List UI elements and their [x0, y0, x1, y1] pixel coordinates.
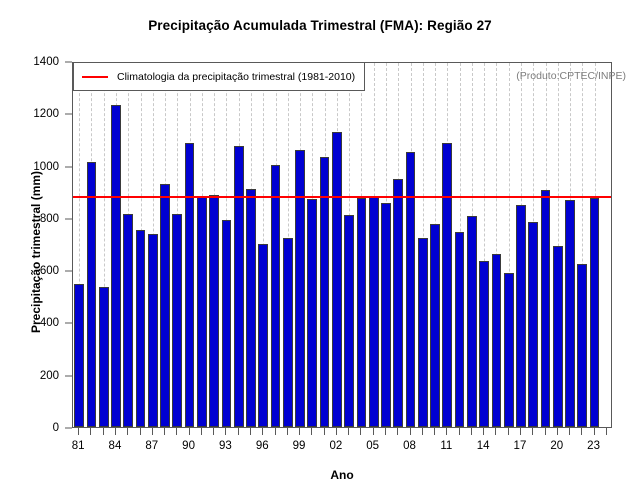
y-axis-tick-mark [65, 428, 72, 429]
x-axis-tick-mark [557, 428, 558, 435]
x-axis-tick-label: 05 [366, 440, 379, 452]
x-axis-tick-mark [336, 428, 337, 435]
x-axis-tick-mark [495, 428, 496, 435]
y-axis-label: Precipitação trimestral (mm) [29, 112, 43, 392]
x-axis-tick-mark [262, 428, 263, 435]
x-axis-tick-mark [385, 428, 386, 435]
x-axis-tick-label: 17 [514, 440, 527, 452]
x-axis-tick-mark [127, 428, 128, 435]
x-axis-tick-mark [360, 428, 361, 435]
x-axis-tick-mark [103, 428, 104, 435]
page-title: Precipitação Acumulada Trimestral (FMA):… [0, 18, 640, 33]
x-axis-tick-mark [471, 428, 472, 435]
legend-item-label: Climatologia da precipitação trimestral … [117, 71, 355, 83]
x-axis-tick-mark [250, 428, 251, 435]
x-axis-label: Ano [72, 468, 612, 482]
climatology-reference-line [73, 196, 611, 198]
x-axis-tick-mark [532, 428, 533, 435]
x-axis-tick-mark [397, 428, 398, 435]
x-axis-tick-mark [213, 428, 214, 435]
y-axis-tick-mark [65, 62, 72, 63]
x-axis-tick-mark [201, 428, 202, 435]
x-axis-tick-mark [225, 428, 226, 435]
x-axis-tick-label: 93 [219, 440, 232, 452]
legend-line-swatch-icon [82, 76, 108, 78]
chart-figure: Precipitação Acumulada Trimestral (FMA):… [0, 0, 640, 500]
x-axis-tick-label: 11 [440, 440, 452, 452]
x-axis-tick-label: 84 [109, 440, 122, 452]
x-axis-tick-mark [459, 428, 460, 435]
x-axis-tick-label: 14 [477, 440, 490, 452]
x-axis-tick-mark [238, 428, 239, 435]
x-axis-tick-mark [299, 428, 300, 435]
y-axis-tick-mark [65, 375, 72, 376]
y-axis-tick-mark [65, 271, 72, 272]
x-axis-tick-mark [520, 428, 521, 435]
x-axis-tick-mark [140, 428, 141, 435]
y-axis-tick-label: 1400 [33, 56, 59, 68]
x-axis-tick-mark [287, 428, 288, 435]
x-axis-tick-mark [78, 428, 79, 435]
x-axis-tick-mark [324, 428, 325, 435]
x-axis-tick-mark [483, 428, 484, 435]
x-axis-tick-mark [311, 428, 312, 435]
x-axis-tick-mark [508, 428, 509, 435]
legend: Climatologia da precipitação trimestral … [73, 62, 365, 91]
x-axis-tick-mark [422, 428, 423, 435]
x-axis-tick-mark [152, 428, 153, 435]
product-credit-annotation: (Produto:CPTEC/INPE) [516, 70, 626, 82]
x-axis-tick-label: 90 [182, 440, 195, 452]
x-axis-tick-label: 02 [329, 440, 342, 452]
x-axis: 818487909396990205081114172023 Ano [72, 428, 612, 500]
x-axis-tick-mark [410, 428, 411, 435]
y-axis-tick-mark [65, 114, 72, 115]
x-axis-tick-mark [569, 428, 570, 435]
x-axis-tick-mark [581, 428, 582, 435]
y-axis-tick-mark [65, 323, 72, 324]
x-axis-tick-mark [348, 428, 349, 435]
x-axis-tick-label: 87 [145, 440, 158, 452]
x-axis-tick-mark [164, 428, 165, 435]
x-axis-tick-mark [373, 428, 374, 435]
x-axis-tick-label: 20 [550, 440, 563, 452]
x-axis-tick-mark [545, 428, 546, 435]
x-axis-tick-mark [606, 428, 607, 435]
x-axis-tick-label: 08 [403, 440, 416, 452]
y-axis-tick-mark [65, 218, 72, 219]
x-axis-tick-mark [446, 428, 447, 435]
x-axis-tick-mark [594, 428, 595, 435]
y-axis-tick-mark [65, 166, 72, 167]
x-axis-tick-mark [434, 428, 435, 435]
y-axis-tick-label: 0 [53, 422, 59, 434]
x-axis-tick-mark [115, 428, 116, 435]
x-axis-tick-mark [189, 428, 190, 435]
climatology-line-layer [73, 63, 611, 427]
x-axis-tick-mark [176, 428, 177, 435]
y-axis: 0200400600800100012001400 Precipitação t… [0, 0, 72, 500]
plot-area [72, 62, 612, 428]
x-axis-tick-label: 96 [256, 440, 269, 452]
x-axis-tick-mark [90, 428, 91, 435]
x-axis-tick-label: 23 [587, 440, 600, 452]
x-axis-tick-mark [275, 428, 276, 435]
x-axis-tick-label: 81 [72, 440, 85, 452]
x-axis-tick-label: 99 [293, 440, 306, 452]
